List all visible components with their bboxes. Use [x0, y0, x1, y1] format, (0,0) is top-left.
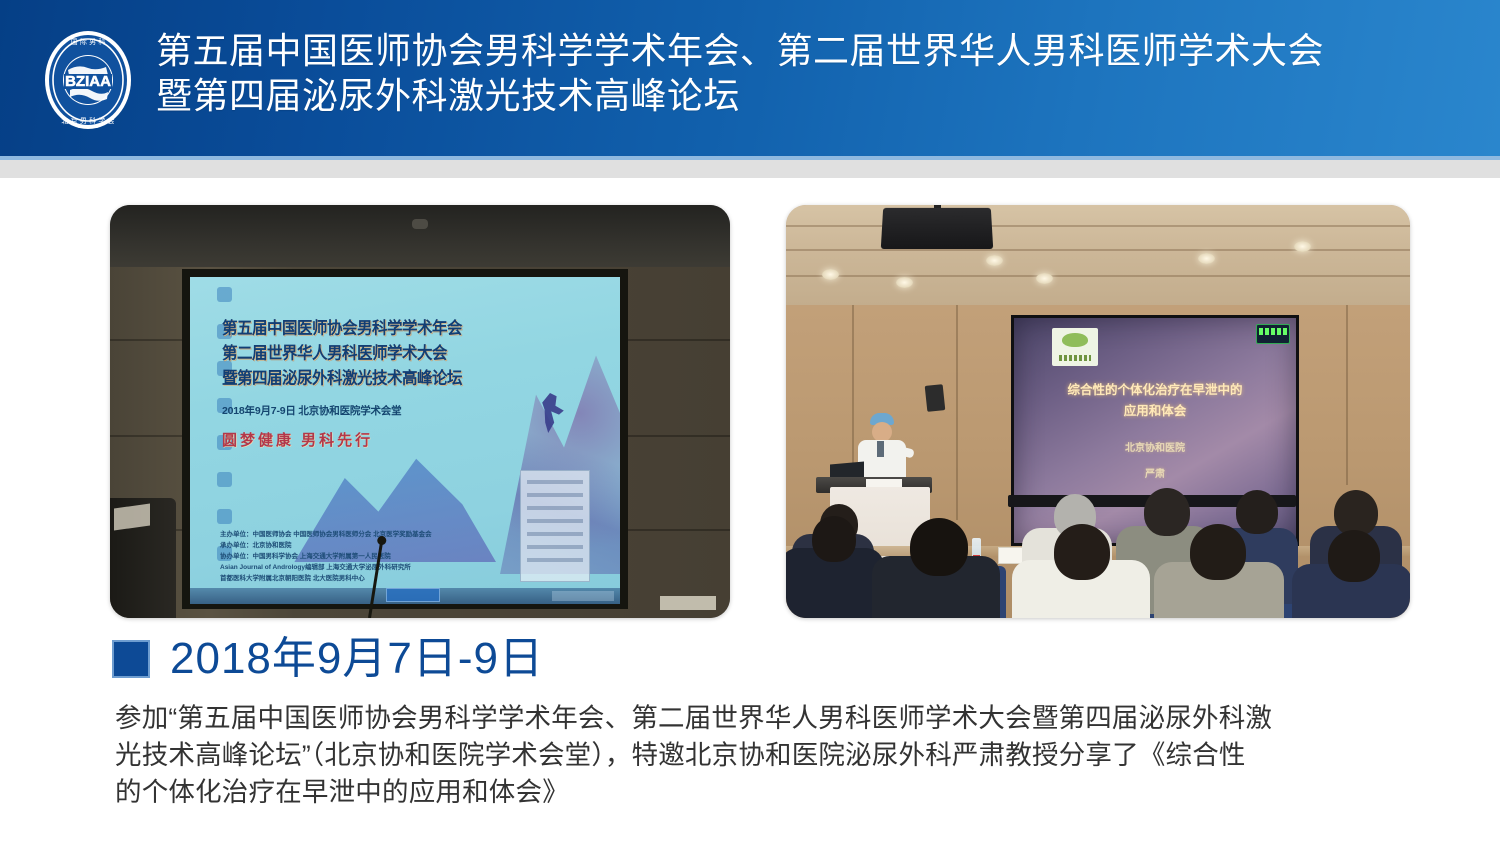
poster-title-group: 第五届中国医师协会男科学学术年会 第二届世界华人男科医师学术大会 暨第四届泌尿外… — [222, 315, 522, 390]
presenter-head — [872, 422, 892, 442]
event-date-row: 2018年9月7日-9日 — [112, 636, 544, 682]
taskbar-system-tray — [552, 591, 614, 601]
poster-title-line-1: 第五届中国医师协会男科学学术年会 — [222, 315, 522, 342]
svg-text:北 京 男 科 学 会: 北 京 男 科 学 会 — [61, 116, 114, 125]
poster-title-line-3: 暨第四届泌尿外科激光技术高峰论坛 — [222, 365, 522, 392]
svg-text:BZIAA: BZIAA — [65, 73, 111, 90]
left-photo-wall-label — [660, 596, 716, 610]
event-description-line-2: 光技术高峰论坛”（北京协和医院学术会堂），特邀北京协和医院泌尿外科严肃教授分享了… — [115, 737, 1415, 774]
poster-date-venue: 2018年9月7-9日 北京协和医院学术会堂 — [222, 403, 401, 418]
poster-credits-group: 主办单位：中国医师协会 中国医师协会男科医师分会 北京医学奖励基金会 承办单位：… — [220, 529, 480, 584]
ceiling-projector-icon — [881, 208, 993, 249]
presenter-collar — [877, 441, 884, 457]
countdown-clock-icon — [1256, 324, 1290, 344]
desktop-popup-menu — [520, 470, 590, 582]
lecture-slide-title-group: 综合性的个体化治疗在早泄中的 应用和体会 — [1024, 380, 1286, 422]
page-title-line-2: 暨第四届泌尿外科激光技术高峰论坛 — [156, 73, 1476, 118]
right-photo-ceiling — [786, 205, 1410, 305]
taskbar-active-window-button — [386, 588, 440, 602]
page-title-line-1: 第五届中国医师协会男科学学术年会、第二届世界华人男科医师学术大会 — [156, 28, 1476, 73]
poster-credit-line-1: 主办单位：中国医师协会 中国医师协会男科医师分会 北京医学奖励基金会 — [220, 529, 480, 540]
event-description-line-3: 的个体化治疗在早泄中的应用和体会》 — [115, 774, 1415, 811]
desktop-taskbar — [190, 588, 620, 604]
photo-gallery: 第五届中国医师协会男科学学术年会 第二届世界华人男科医师学术大会 暨第四届泌尿外… — [0, 200, 1500, 620]
poster-title-line-2: 第二届世界华人男科医师学术大会 — [222, 340, 522, 367]
event-description-line-1: 参加“第五届中国医师协会男科学学术年会、第二届世界华人男科医师学术大会暨第四届泌… — [115, 700, 1415, 737]
event-description: 参加“第五届中国医师协会男科学学术年会、第二届世界华人男科医师学术大会暨第四届泌… — [115, 700, 1415, 811]
slide-logo-icon — [1052, 328, 1098, 366]
event-date-label: 2018年9月7日-9日 — [170, 636, 544, 682]
photo-conference-poster-screen: 第五届中国医师协会男科学学术年会 第二届世界华人男科医师学术大会 暨第四届泌尿外… — [110, 205, 730, 618]
photo-lecture-hall: 综合性的个体化治疗在早泄中的 应用和体会 北京协和医院 严肃 — [786, 205, 1410, 618]
lecture-slide-title-line-2: 应用和体会 — [1024, 401, 1286, 422]
poster-credit-line-3: 协办单位：中国男科学协会 上海交通大学附属第一人民医院 — [220, 551, 480, 562]
left-photo-projection-screen: 第五届中国医师协会男科学学术年会 第二届世界华人男科医师学术大会 暨第四届泌尿外… — [190, 277, 620, 604]
header-title-group: 第五届中国医师协会男科学学术年会、第二届世界华人男科医师学术大会 暨第四届泌尿外… — [156, 28, 1476, 118]
ceiling-mount-icon — [412, 219, 428, 229]
audience-group — [786, 458, 1410, 618]
left-photo-ceiling — [110, 205, 730, 269]
bziaa-association-emblem-icon: BZIAA 国 际 男 科 北 京 男 科 学 会 — [34, 26, 142, 134]
poster-slogan: 圆梦健康 男科先行 — [222, 429, 373, 450]
left-photo-podium — [110, 498, 176, 618]
wall-speaker-icon — [925, 384, 946, 412]
poster-credit-line-4: Asian Journal of Andrology编辑部 上海交通大学泌尿外科… — [220, 562, 480, 573]
header-gray-divider — [0, 160, 1500, 178]
poster-credit-line-2: 承办单位：北京协和医院 — [220, 540, 480, 551]
svg-text:国 际 男 科: 国 际 男 科 — [71, 37, 106, 46]
date-bullet-square-icon — [112, 640, 150, 678]
poster-credit-line-5: 首都医科大学附属北京朝阳医院 北大医院男科中心 — [220, 573, 480, 584]
lecture-slide-title-line-1: 综合性的个体化治疗在早泄中的 — [1024, 380, 1286, 401]
page-header: BZIAA 国 际 男 科 北 京 男 科 学 会 第五届中国医师协会男科学学术… — [0, 0, 1500, 156]
